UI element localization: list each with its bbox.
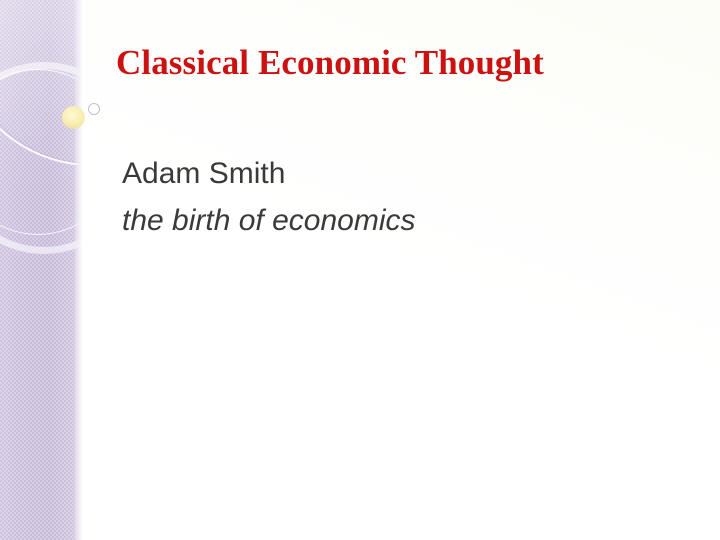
decorative-side-band [0, 0, 82, 540]
presentation-slide: Classical Economic Thought Adam Smith th… [0, 0, 720, 540]
band-right-edge [75, 0, 82, 540]
body-line-adam-smith: Adam Smith [122, 150, 642, 197]
body-line-subtitle: the birth of economics [122, 197, 642, 244]
tiny-ring-icon [88, 103, 100, 115]
band-highlight-panel [0, 0, 82, 190]
slide-body: Adam Smith the birth of economics [122, 150, 642, 244]
slide-title: Classical Economic Thought [116, 42, 676, 84]
